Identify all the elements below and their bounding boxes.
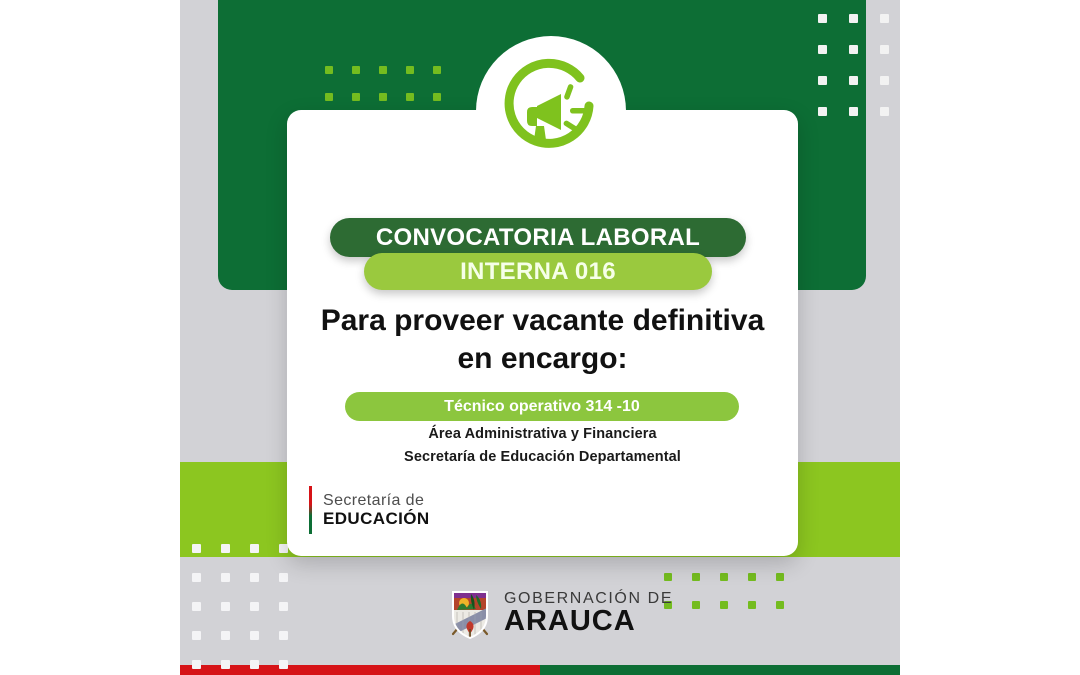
dot <box>325 93 333 101</box>
dot <box>720 601 728 609</box>
secretaria-educacion-logo: Secretaría de EDUCACIÓN <box>309 486 430 534</box>
dot <box>880 76 889 85</box>
arauca-coat-of-arms-icon <box>447 588 493 640</box>
dot <box>664 573 672 581</box>
dot-grid-bottom-left <box>192 544 308 675</box>
headline-line-2: en encargo: <box>307 340 778 378</box>
dot <box>692 601 700 609</box>
dot <box>250 631 259 640</box>
dot <box>221 602 230 611</box>
gobernacion-logo-text: GOBERNACIÓN DE ARAUCA <box>504 591 673 637</box>
dot <box>849 14 858 23</box>
dot <box>192 631 201 640</box>
dot <box>776 573 784 581</box>
secretaria-logo-line-1: Secretaría de <box>323 492 430 510</box>
headline-line-1: Para proveer vacante definitiva <box>307 302 778 340</box>
dot <box>776 601 784 609</box>
dot-grid-top-right <box>818 14 911 138</box>
megaphone-icon <box>492 52 610 170</box>
dot <box>192 660 201 669</box>
dot <box>818 45 827 54</box>
dot <box>433 93 441 101</box>
dot <box>279 631 288 640</box>
dot <box>325 66 333 74</box>
logo-gradient-bar-icon <box>309 486 312 534</box>
page-title: Para proveer vacante definitiva en encar… <box>307 302 778 377</box>
banner-convocatoria: CONVOCATORIA LABORAL <box>330 218 746 257</box>
dot <box>221 660 230 669</box>
dot <box>250 544 259 553</box>
dot <box>192 544 201 553</box>
dot <box>720 573 728 581</box>
poster-canvas: CONVOCATORIA LABORAL INTERNA 016 Para pr… <box>0 0 1080 675</box>
subline-area: Área Administrativa y Financiera <box>307 426 778 442</box>
gobernacion-arauca-logo: GOBERNACIÓN DE ARAUCA <box>447 588 673 640</box>
dot <box>748 573 756 581</box>
dot <box>250 660 259 669</box>
dot <box>818 14 827 23</box>
dot <box>279 573 288 582</box>
dot <box>192 573 201 582</box>
dot <box>433 66 441 74</box>
dot <box>849 45 858 54</box>
dot <box>279 602 288 611</box>
dot <box>379 66 387 74</box>
dot <box>250 602 259 611</box>
dot <box>352 93 360 101</box>
dot <box>250 573 259 582</box>
banner-interna: INTERNA 016 <box>364 253 712 290</box>
subline-secretaria: Secretaría de Educación Departamental <box>307 449 778 465</box>
dot <box>192 602 201 611</box>
dot <box>221 544 230 553</box>
dot <box>279 660 288 669</box>
secretaria-logo-text: Secretaría de EDUCACIÓN <box>323 492 430 529</box>
dot <box>221 631 230 640</box>
dot <box>221 573 230 582</box>
dot <box>379 93 387 101</box>
dot <box>352 66 360 74</box>
megaphone-badge <box>476 36 626 186</box>
dot <box>880 45 889 54</box>
dot <box>406 66 414 74</box>
dot <box>692 573 700 581</box>
dot <box>880 107 889 116</box>
dot <box>849 76 858 85</box>
dot <box>748 601 756 609</box>
dot <box>818 76 827 85</box>
dot <box>406 93 414 101</box>
secretaria-logo-line-2: EDUCACIÓN <box>323 509 430 528</box>
role-badge: Técnico operativo 314 -10 <box>345 392 739 421</box>
gobernacion-line-2: ARAUCA <box>504 607 673 637</box>
dot <box>849 107 858 116</box>
dot <box>880 14 889 23</box>
dot <box>818 107 827 116</box>
bottom-bar-green-segment <box>540 665 900 675</box>
